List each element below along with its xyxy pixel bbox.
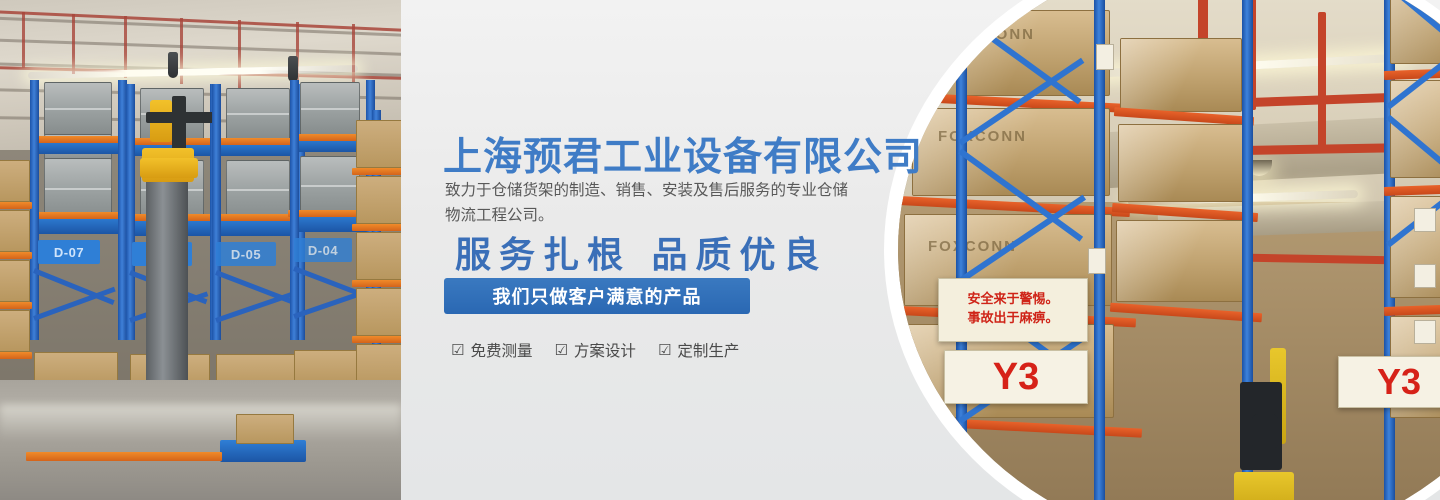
feature-item: ☑ 免费测量 [451,339,532,361]
aisle-sign-label: Y3 [993,356,1039,399]
rack-beam [34,136,126,143]
carton [0,310,30,352]
safety-sign-line-2: 事故出于麻痹。 [967,310,1058,329]
aisle-sign-edge: Y3 [1338,356,1440,408]
rack-foot [122,452,222,461]
carton [356,288,401,336]
rack-post [212,84,221,340]
left-warehouse-photo: D-07 D-06 [0,0,401,500]
right-warehouse-photo: FOXCONN FOXCONN FOXCONN [920,0,1440,500]
carton [0,210,30,252]
check-box-icon: ☑ [451,343,464,358]
rack-label: D-04 [294,238,352,262]
palletized-goods [1120,38,1242,112]
forklift-crossbar [146,112,218,123]
rack-beam [0,302,32,309]
box-label [1414,208,1436,232]
check-box-icon: ☑ [658,343,671,358]
rack-beam [0,352,32,359]
forklift-mast [146,182,188,392]
sprinkler-drop [238,20,241,90]
hero-banner: D-07 D-06 [0,0,1440,500]
box-label [1414,264,1436,288]
pallet-tote [44,82,112,136]
rack-post [290,80,299,340]
safety-sign-line-1: 安全来于警惕。 [967,291,1058,310]
cta-button[interactable]: 我们只做客户满意的产品 [444,278,750,314]
box-label [1088,248,1106,274]
sprinkler-drop [124,16,127,78]
carton [356,232,401,280]
rack-post [956,0,967,500]
box-label [1096,44,1114,70]
rack-post [126,84,135,340]
company-description: 致力于仓储货架的制造、销售、安装及售后服务的专业仓储物流工程公司。 [445,178,857,228]
rack-beam [352,336,401,343]
palletized-goods [912,108,1110,196]
carton [0,160,30,202]
floor-reflection [0,404,401,440]
carton [356,120,401,168]
pallet-tote [226,88,290,140]
palletized-goods [1116,220,1248,302]
warehouse-floor [0,380,401,500]
feature-label: 方案设计 [574,339,636,361]
feature-item: ☑ 定制生产 [658,339,739,361]
pallet-tote [44,158,112,220]
sprinkler-drop [1318,12,1326,152]
rack-label: D-07 [38,240,100,264]
rack-beam [30,212,126,219]
feature-label: 定制生产 [677,339,739,361]
pallet-tote [300,82,360,136]
aisle-sign: Y3 [944,350,1088,404]
company-slogan: 服务扎根 品质优良 [455,226,828,278]
box-label [1414,320,1436,344]
aisle-sign-edge-label: Y3 [1377,361,1421,403]
sprinkler-drop [72,14,75,74]
carton [236,414,294,444]
feature-item: ☑ 方案设计 [554,339,635,361]
ceiling-fixture [168,52,178,78]
photo-ellipse: FOXCONN FOXCONN FOXCONN [898,0,1440,500]
safety-sign: 安全来于警惕。 事故出于麻痹。 [938,278,1088,342]
forklift-cab [140,158,198,178]
rack-label: D-05 [216,242,276,266]
rack-beam [352,224,401,231]
rack-beam [352,168,401,175]
company-title: 上海预君工业设备有限公司 [443,126,923,182]
rack-beam [0,202,32,209]
carton [356,176,401,224]
feature-list: ☑ 免费测量 ☑ 方案设计 ☑ 定制生产 [451,339,739,361]
carton [0,260,30,302]
pallet-tote [300,156,360,216]
sprinkler-drop [22,12,25,68]
rack-foot [26,452,130,461]
pallet-tote [226,160,290,220]
forklift-operator [1252,414,1278,448]
forklift-counterweight [1234,472,1294,500]
rack-beam [0,252,32,259]
banner-content: 上海预君工业设备有限公司 致力于仓储货架的制造、销售、安装及售后服务的专业仓储物… [443,0,923,500]
ceiling-fixture [288,56,298,82]
check-box-icon: ☑ [554,343,567,358]
palletized-goods [1118,124,1244,202]
feature-label: 免费测量 [470,339,532,361]
rack-beam [352,280,401,287]
rack-post [30,80,39,340]
